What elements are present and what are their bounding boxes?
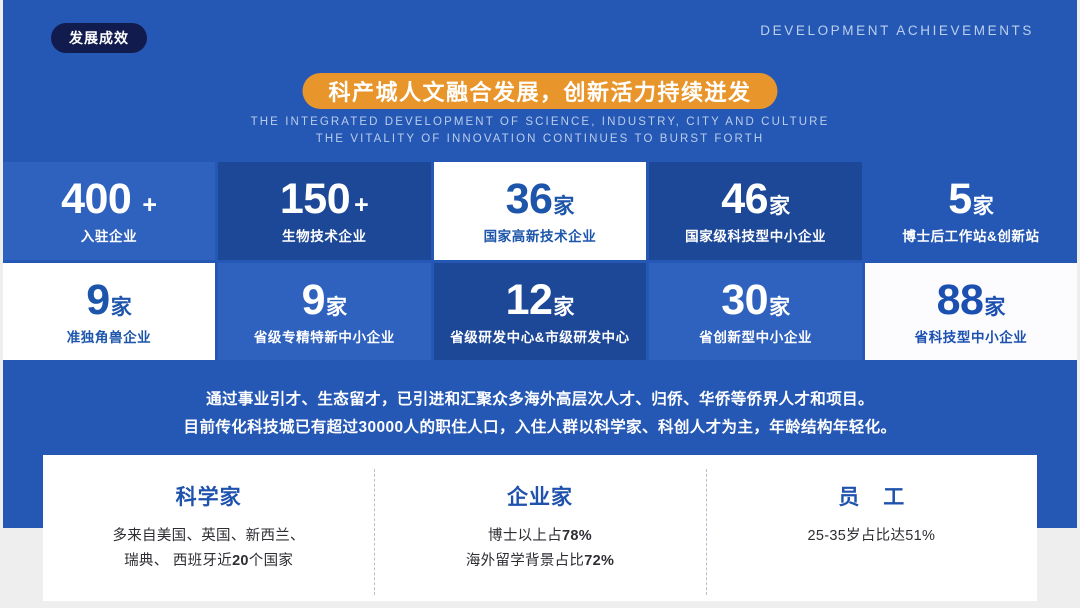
stat-unit: 家 bbox=[769, 196, 790, 217]
talent-column-line: 多来自美国、英国、新西兰、 bbox=[112, 524, 304, 549]
stat-label: 入驻企业 bbox=[81, 230, 137, 244]
stat-number: 36 bbox=[506, 178, 553, 221]
stat-number-line: 9家 bbox=[302, 279, 347, 322]
talent-breakdown-card: 科学家多来自美国、英国、新西兰、瑞典、 西班牙近20个国家企业家博士以上占78%… bbox=[43, 455, 1037, 601]
stat-cell: 88家省科技型中小企业 bbox=[865, 263, 1077, 361]
stat-number: 30 bbox=[721, 279, 768, 322]
summary-paragraph: 通过事业引才、生态留才，已引进和汇聚众多海外高层次人才、归侨、华侨等侨界人才和项… bbox=[0, 386, 1080, 442]
stat-number-line: 36家 bbox=[506, 178, 575, 221]
stat-unit: 家 bbox=[973, 196, 994, 217]
stat-cell: 9家准独角兽企业 bbox=[3, 263, 215, 361]
talent-line-prefix: 博士以上占 bbox=[488, 528, 562, 544]
stat-unit: 家 bbox=[111, 297, 132, 318]
talent-column: 企业家博士以上占78%海外留学背景占比72% bbox=[374, 455, 705, 601]
stat-label: 国家高新技术企业 bbox=[484, 230, 597, 244]
stat-number-line: 150+ bbox=[280, 178, 369, 221]
stat-unit: 家 bbox=[553, 297, 574, 318]
stat-number: 150 bbox=[280, 178, 350, 221]
stat-cell: 36家国家高新技术企业 bbox=[434, 162, 647, 260]
talent-column-title: 企业家 bbox=[507, 487, 573, 508]
talent-column-line: 博士以上占78% bbox=[488, 524, 592, 549]
eyebrow-english: DEVELOPMENT ACHIEVEMENTS bbox=[760, 23, 1034, 38]
stat-cell: 46家国家级科技型中小企业 bbox=[649, 162, 862, 260]
stat-number-line: 12家 bbox=[506, 279, 575, 322]
stat-number-line: 88家 bbox=[937, 279, 1006, 322]
summary-paragraph-line2: 目前传化科技城已有超过30000人的职住人口，入住人群以科学家、科创人才为主，年… bbox=[0, 414, 1080, 442]
talent-column-title: 科学家 bbox=[176, 487, 242, 508]
stat-number: 12 bbox=[506, 279, 553, 322]
subtitle-english-line2: THE VITALITY OF INNOVATION CONTINUES TO … bbox=[0, 131, 1080, 148]
stat-cell: 5家博士后工作站&创新站 bbox=[865, 162, 1077, 260]
talent-column-title: 员 工 bbox=[829, 487, 913, 508]
stat-cell: 12家省级研发中心&市级研发中心 bbox=[434, 263, 647, 361]
talent-line-highlight: 20 bbox=[232, 553, 249, 569]
stat-unit: + bbox=[142, 193, 157, 218]
stat-cell: 9家省级专精特新中小企业 bbox=[218, 263, 431, 361]
stat-unit: 家 bbox=[326, 297, 347, 318]
talent-column: 科学家多来自美国、英国、新西兰、瑞典、 西班牙近20个国家 bbox=[43, 455, 374, 601]
stat-number: 5 bbox=[948, 178, 971, 221]
stat-number-line: 400+ bbox=[61, 178, 157, 221]
talent-line-suffix: 个国家 bbox=[249, 553, 293, 569]
stat-unit: 家 bbox=[553, 196, 574, 217]
talent-line-prefix: 海外留学背景占比 bbox=[466, 553, 584, 569]
stats-grid: 400+入驻企业150+生物技术企业36家国家高新技术企业46家国家级科技型中小… bbox=[3, 162, 1077, 360]
stat-cell: 150+生物技术企业 bbox=[218, 162, 431, 260]
stat-number: 46 bbox=[721, 178, 768, 221]
stat-number-line: 46家 bbox=[721, 178, 790, 221]
stat-number: 400 bbox=[61, 178, 131, 221]
stat-unit: 家 bbox=[769, 297, 790, 318]
stat-label: 省创新型中小企业 bbox=[699, 331, 812, 345]
stat-label: 准独角兽企业 bbox=[67, 331, 152, 345]
stat-label: 国家级科技型中小企业 bbox=[685, 230, 826, 244]
talent-line-prefix: 25-35岁占比达51% bbox=[807, 528, 935, 544]
stat-number-line: 30家 bbox=[721, 279, 790, 322]
talent-column-line: 25-35岁占比达51% bbox=[807, 524, 935, 549]
stat-number: 88 bbox=[937, 279, 984, 322]
slide-root: 发展成效 DEVELOPMENT ACHIEVEMENTS 科产城人文融合发展，… bbox=[0, 0, 1080, 608]
stat-unit: + bbox=[354, 193, 369, 218]
section-badge-label: 发展成效 bbox=[69, 28, 129, 48]
talent-line-highlight: 72% bbox=[584, 553, 614, 569]
talent-line-prefix: 瑞典、 西班牙近 bbox=[124, 553, 232, 569]
summary-paragraph-line1: 通过事业引才、生态留才，已引进和汇聚众多海外高层次人才、归侨、华侨等侨界人才和项… bbox=[0, 386, 1080, 414]
section-badge: 发展成效 bbox=[51, 23, 147, 53]
stat-label: 省级专精特新中小企业 bbox=[254, 331, 395, 345]
stat-label: 省级研发中心&市级研发中心 bbox=[450, 331, 630, 345]
subtitle-english-line1: THE INTEGRATED DEVELOPMENT OF SCIENCE, I… bbox=[0, 114, 1080, 131]
stat-number-line: 9家 bbox=[86, 279, 131, 322]
stat-cell: 30家省创新型中小企业 bbox=[649, 263, 862, 361]
talent-column-line: 瑞典、 西班牙近20个国家 bbox=[124, 549, 293, 574]
main-title-text: 科产城人文融合发展，创新活力持续迸发 bbox=[328, 75, 751, 107]
stat-label: 博士后工作站&创新站 bbox=[902, 230, 1039, 244]
talent-line-highlight: 78% bbox=[562, 528, 592, 544]
stat-label: 生物技术企业 bbox=[282, 230, 367, 244]
stat-number: 9 bbox=[302, 279, 325, 322]
stat-label: 省科技型中小企业 bbox=[915, 331, 1028, 345]
talent-column: 员 工25-35岁占比达51% bbox=[706, 455, 1037, 601]
stat-cell: 400+入驻企业 bbox=[3, 162, 215, 260]
stat-number-line: 5家 bbox=[948, 178, 993, 221]
talent-column-line: 海外留学背景占比72% bbox=[466, 549, 614, 574]
stat-unit: 家 bbox=[984, 297, 1005, 318]
stat-number: 9 bbox=[86, 279, 109, 322]
talent-line-prefix: 多来自美国、英国、新西兰、 bbox=[112, 528, 304, 544]
page-background-left bbox=[0, 0, 3, 608]
main-title-pill: 科产城人文融合发展，创新活力持续迸发 bbox=[302, 73, 777, 109]
